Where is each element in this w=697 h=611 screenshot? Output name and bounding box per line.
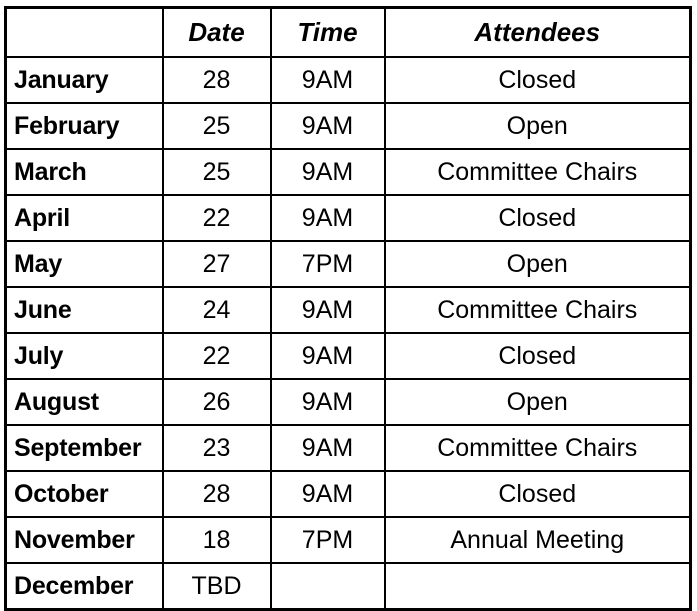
cell-time: 9AM (271, 195, 385, 241)
cell-attendees: Annual Meeting (385, 517, 691, 563)
cell-date: 26 (163, 379, 271, 425)
cell-date: 22 (163, 195, 271, 241)
cell-attendees: Closed (385, 57, 691, 103)
cell-attendees: Committee Chairs (385, 425, 691, 471)
cell-month: August (6, 379, 163, 425)
cell-date: TBD (163, 563, 271, 610)
cell-time: 9AM (271, 333, 385, 379)
cell-month: June (6, 287, 163, 333)
cell-month: July (6, 333, 163, 379)
cell-date: 25 (163, 149, 271, 195)
cell-attendees (385, 563, 691, 610)
cell-month: November (6, 517, 163, 563)
cell-month: October (6, 471, 163, 517)
cell-time (271, 563, 385, 610)
cell-time: 9AM (271, 57, 385, 103)
table-row: October289AMClosed (6, 471, 691, 517)
table-row: February259AMOpen (6, 103, 691, 149)
cell-time: 9AM (271, 425, 385, 471)
table-body: January289AMClosedFebruary259AMOpenMarch… (6, 57, 691, 610)
cell-date: 28 (163, 471, 271, 517)
cell-time: 9AM (271, 103, 385, 149)
cell-time: 7PM (271, 517, 385, 563)
cell-attendees: Open (385, 379, 691, 425)
cell-month: January (6, 57, 163, 103)
cell-month: March (6, 149, 163, 195)
cell-date: 25 (163, 103, 271, 149)
column-header-time: Time (271, 8, 385, 58)
table-row: August269AMOpen (6, 379, 691, 425)
cell-date: 27 (163, 241, 271, 287)
cell-time: 9AM (271, 471, 385, 517)
cell-attendees: Closed (385, 195, 691, 241)
table-header: Date Time Attendees (6, 8, 691, 58)
table-row: DecemberTBD (6, 563, 691, 610)
cell-time: 9AM (271, 379, 385, 425)
cell-month: May (6, 241, 163, 287)
cell-date: 18 (163, 517, 271, 563)
table-row: May277PMOpen (6, 241, 691, 287)
cell-time: 7PM (271, 241, 385, 287)
table-row: June249AMCommittee Chairs (6, 287, 691, 333)
column-header-date: Date (163, 8, 271, 58)
cell-month: December (6, 563, 163, 610)
cell-month: April (6, 195, 163, 241)
cell-date: 23 (163, 425, 271, 471)
meeting-schedule-container: Date Time Attendees January289AMClosedFe… (4, 6, 689, 587)
cell-month: February (6, 103, 163, 149)
cell-attendees: Committee Chairs (385, 287, 691, 333)
table-row: November187PMAnnual Meeting (6, 517, 691, 563)
column-header-month (6, 8, 163, 58)
cell-month: September (6, 425, 163, 471)
cell-time: 9AM (271, 287, 385, 333)
cell-attendees: Open (385, 103, 691, 149)
table-row: March259AMCommittee Chairs (6, 149, 691, 195)
meeting-schedule-table: Date Time Attendees January289AMClosedFe… (4, 6, 692, 611)
cell-attendees: Committee Chairs (385, 149, 691, 195)
cell-date: 22 (163, 333, 271, 379)
cell-attendees: Open (385, 241, 691, 287)
cell-attendees: Closed (385, 471, 691, 517)
cell-date: 24 (163, 287, 271, 333)
cell-time: 9AM (271, 149, 385, 195)
table-row: January289AMClosed (6, 57, 691, 103)
cell-date: 28 (163, 57, 271, 103)
table-row: July229AMClosed (6, 333, 691, 379)
table-row: September239AMCommittee Chairs (6, 425, 691, 471)
header-row: Date Time Attendees (6, 8, 691, 58)
column-header-attendees: Attendees (385, 8, 691, 58)
cell-attendees: Closed (385, 333, 691, 379)
table-row: April229AMClosed (6, 195, 691, 241)
